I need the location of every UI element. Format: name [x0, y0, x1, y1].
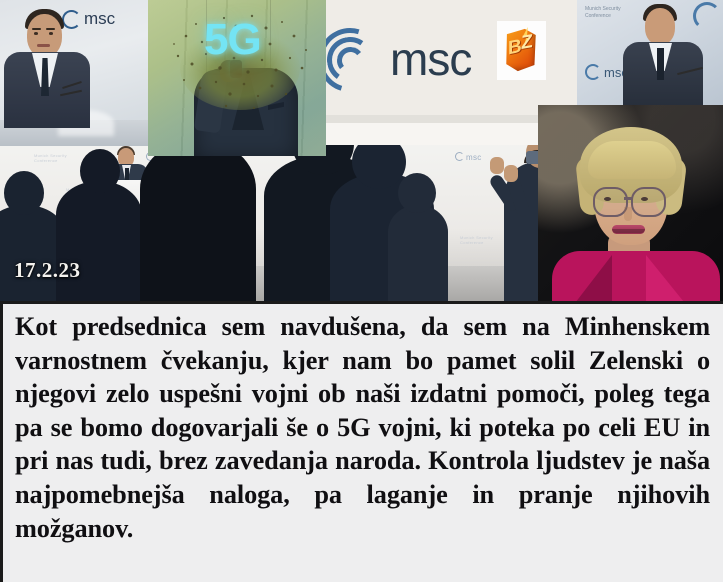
- audience-silhouette: [140, 141, 256, 301]
- backdrop-watermark: Munich Security Conference: [34, 154, 67, 163]
- zelensky-podium-photo: Munich Security Conference msc: [577, 0, 723, 112]
- portrait-jacket: [552, 251, 720, 301]
- audience-silhouette: [56, 181, 142, 301]
- bz-logo-card: B Z: [497, 21, 546, 80]
- msc-ring-icon: [693, 2, 721, 30]
- audience-head: [398, 173, 436, 213]
- zelensky-tie: [657, 48, 664, 80]
- backdrop-watermark: Munich Security Conference: [460, 236, 493, 245]
- bz-logo-letter-z: Z: [521, 31, 533, 55]
- msc-conference-label: Munich Security Conference: [585, 6, 621, 20]
- msc-ring-icon: [62, 10, 81, 29]
- five-g-man-photo: 5G: [148, 0, 326, 156]
- audience-silhouette: [388, 205, 448, 301]
- msc-ring-icon: [326, 28, 380, 90]
- msc-ring-icon: [585, 64, 601, 80]
- audience-silhouette: [0, 205, 64, 301]
- photo-collage: Munich Security Conference msc msc msc M…: [0, 0, 723, 301]
- eyeglasses-icon: [593, 187, 628, 217]
- zelensky-head: [645, 8, 675, 45]
- msc-logo-small: msc: [585, 64, 628, 80]
- quote-card: Kot predsednica sem navdušena, da sem na…: [0, 301, 723, 582]
- quote-text: Kot predsednica sem navdušena, da sem na…: [3, 304, 723, 579]
- msc-logo-small: msc: [62, 9, 115, 29]
- date-stamp: 17.2.23: [14, 258, 81, 283]
- meme-image: Munich Security Conference msc msc msc M…: [0, 0, 723, 582]
- msc-logo-text: msc: [390, 32, 471, 86]
- bz-logo-letter-b: B: [508, 36, 522, 61]
- msc-ring-icon: [455, 152, 464, 161]
- zelensky-head: [27, 14, 62, 57]
- backdrop-watermark: msc: [455, 152, 482, 162]
- five-g-label: 5G: [204, 18, 261, 62]
- audience-head: [4, 171, 44, 215]
- eyeglasses-icon: [631, 187, 666, 217]
- msc-logo-large: msc: [326, 28, 471, 90]
- zelensky-screen-photo: msc: [0, 0, 148, 146]
- audience-head: [80, 149, 120, 193]
- woman-portrait-photo: [538, 105, 723, 301]
